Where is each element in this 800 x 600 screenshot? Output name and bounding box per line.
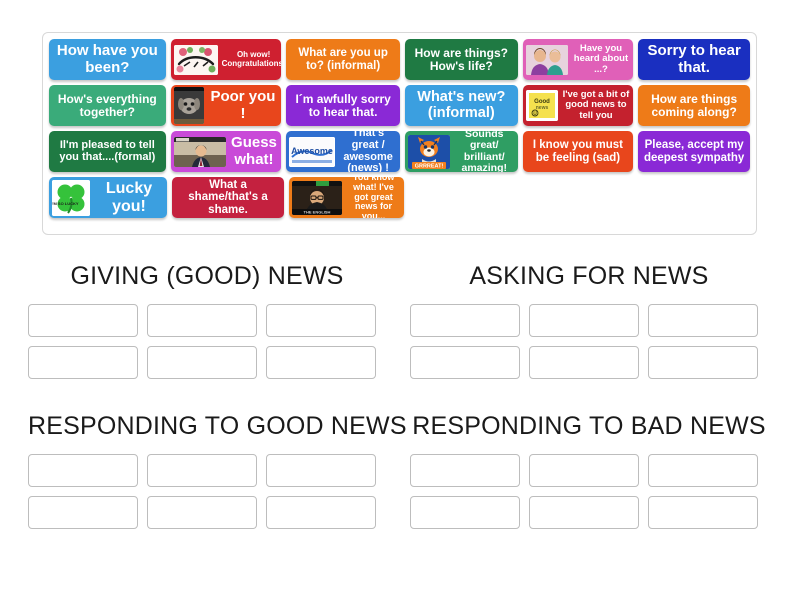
tile-label: That's great / awesome (news) !	[339, 131, 397, 172]
tile-label: Please, accept my deepest sympathy	[642, 139, 746, 164]
sad-dog-video-thumb	[174, 87, 204, 124]
tile-row: How's everything together? Poor you !I´m…	[49, 85, 750, 126]
drop-slot[interactable]	[28, 454, 138, 487]
word-tile-tray: How have you been? Oh wow! Congratulatio…	[42, 32, 757, 235]
drop-slot[interactable]	[147, 454, 257, 487]
drop-slot[interactable]	[266, 304, 376, 337]
drop-slot[interactable]	[648, 454, 758, 487]
category-responding-to-bad-news: RESPONDING TO BAD NEWS	[410, 412, 768, 529]
svg-text:news: news	[535, 105, 548, 111]
slot-grid	[410, 454, 768, 529]
drop-slot[interactable]	[147, 304, 257, 337]
category-giving-good-news: GIVING (GOOD) NEWS	[28, 262, 386, 379]
drop-slot[interactable]	[266, 346, 376, 379]
tile-label: How are things coming along?	[642, 93, 746, 119]
tile-label: You know what! I've got great news for y…	[346, 177, 401, 218]
tile-have-you-heard-about[interactable]: Have you heard about ...?	[523, 39, 634, 80]
tile-sounds-great-brilliant-amazing[interactable]: GRRREAT! Sounds great/ brilliant/ amazin…	[405, 131, 518, 172]
good-news-sticky-note-thumb: Good news	[526, 90, 558, 121]
tile-im-awfully-sorry-to-hear-that[interactable]: I´m awfully sorry to hear that.	[286, 85, 400, 126]
svg-text:GRRREAT!: GRRREAT!	[415, 163, 444, 169]
drop-slot[interactable]	[28, 304, 138, 337]
tile-label: Sorry to hear that.	[642, 43, 746, 75]
man-glasses-video-thumb: THE ENGLISH	[292, 181, 342, 215]
drop-slot[interactable]	[529, 346, 639, 379]
awesome-logo-thumb: Awesome	[289, 137, 335, 167]
drop-slot[interactable]	[529, 496, 639, 529]
slot-grid	[28, 304, 386, 379]
tile-label: How have you been?	[53, 43, 162, 75]
category-asking-for-news: ASKING FOR NEWS	[410, 262, 768, 379]
two-girls-gossip-thumb	[526, 45, 568, 75]
slot-grid	[410, 304, 768, 379]
drop-slot[interactable]	[28, 496, 138, 529]
tile-how-have-you-been[interactable]: How have you been?	[49, 39, 166, 80]
drop-slot[interactable]	[648, 496, 758, 529]
tile-sorry-to-hear-that[interactable]: Sorry to hear that.	[638, 39, 750, 80]
tile-you-know-what-ive-got-great-news[interactable]: THE ENGLISH You know what! I've got grea…	[289, 177, 404, 218]
drop-slot[interactable]	[529, 304, 639, 337]
category-title: ASKING FOR NEWS	[410, 262, 768, 291]
tile-how-are-things-hows-life[interactable]: How are things? How's life?	[405, 39, 518, 80]
drop-slot[interactable]	[266, 496, 376, 529]
svg-text:Awesome: Awesome	[291, 146, 333, 156]
drop-slot[interactable]	[147, 496, 257, 529]
tile-oh-wow-congratulations[interactable]: Oh wow! Congratulations!	[171, 39, 282, 80]
tile-label: How's everything together?	[53, 93, 162, 119]
drop-slot[interactable]	[648, 346, 758, 379]
category-title: GIVING (GOOD) NEWS	[28, 262, 386, 291]
drop-slot[interactable]	[410, 496, 520, 529]
tile-how-are-things-coming-along[interactable]: How are things coming along?	[638, 85, 750, 126]
tile-lucky-you[interactable]: I'M SO LUCKY Lucky you!	[49, 177, 167, 218]
drop-slot[interactable]	[28, 346, 138, 379]
tile-label: Il'm pleased to tell you that....(formal…	[53, 140, 162, 164]
tile-row: Il'm pleased to tell you that....(formal…	[49, 131, 750, 172]
tiger-mascot-thumb: GRRREAT!	[408, 135, 450, 169]
tile-label: Sounds great/ brilliant/ amazing!	[454, 131, 515, 172]
congrats-flowers-thumb	[174, 45, 218, 75]
category-responding-to-good-news: RESPONDING TO GOOD NEWS	[28, 412, 407, 529]
tile-label: Guess what!	[230, 135, 279, 167]
tile-row: How have you been? Oh wow! Congratulatio…	[49, 39, 750, 80]
drop-slot[interactable]	[410, 304, 520, 337]
tile-im-pleased-to-tell-you-formal[interactable]: Il'm pleased to tell you that....(formal…	[49, 131, 166, 172]
tile-rows-container: How have you been? Oh wow! Congratulatio…	[49, 39, 750, 223]
tile-label: How are things? How's life?	[409, 47, 514, 73]
tile-what-are-you-up-to-informal[interactable]: What are you up to? (informal)	[286, 39, 400, 80]
tile-guess-what[interactable]: Guess what!	[171, 131, 282, 172]
tile-label: What are you up to? (informal)	[290, 47, 396, 72]
tile-what-a-shame-thats-a-shame[interactable]: What a shame/that's a shame.	[172, 177, 284, 218]
tile-label: What's new? (informal)	[409, 90, 514, 121]
slot-grid	[28, 454, 386, 529]
tile-label: Lucky you!	[94, 180, 164, 215]
drop-slot[interactable]	[266, 454, 376, 487]
tile-label: I´m awfully sorry to hear that.	[290, 93, 396, 119]
svg-text:I'M SO LUCKY: I'M SO LUCKY	[52, 201, 79, 206]
svg-text:THE ENGLISH: THE ENGLISH	[304, 209, 331, 214]
tile-please-accept-my-deepest-sympathy[interactable]: Please, accept my deepest sympathy	[638, 131, 750, 172]
tile-ive-got-a-bit-of-good-news[interactable]: Good news I've got a bit of good news to…	[523, 85, 634, 126]
tile-label: Oh wow! Congratulations!	[222, 51, 282, 68]
tile-label: I've got a bit of good news to tell you	[562, 90, 631, 121]
category-title: RESPONDING TO BAD NEWS	[410, 412, 768, 441]
drop-slot[interactable]	[529, 454, 639, 487]
category-title: RESPONDING TO GOOD NEWS	[28, 412, 407, 441]
drop-slot[interactable]	[410, 346, 520, 379]
four-leaf-clover-thumb: I'M SO LUCKY	[52, 180, 90, 216]
tile-label: What a shame/that's a shame.	[176, 179, 280, 216]
man-suit-video-thumb	[174, 137, 226, 167]
tile-label: I know you must be feeling (sad)	[527, 139, 630, 164]
tile-i-know-you-must-be-feeling-sad[interactable]: I know you must be feeling (sad)	[523, 131, 634, 172]
tile-poor-you[interactable]: Poor you !	[171, 85, 282, 126]
tile-row: I'M SO LUCKY Lucky you!What a shame/that…	[49, 177, 750, 218]
tile-thats-great-awesome-news[interactable]: Awesome That's great / awesome (news) !	[286, 131, 400, 172]
tile-hows-everything-together[interactable]: How's everything together?	[49, 85, 166, 126]
tile-label: Poor you !	[208, 89, 279, 121]
tile-label: Have you heard about ...?	[572, 44, 631, 75]
drop-slot[interactable]	[147, 346, 257, 379]
drop-slot[interactable]	[648, 304, 758, 337]
drop-slot[interactable]	[410, 454, 520, 487]
tile-whats-new-informal[interactable]: What's new? (informal)	[405, 85, 518, 126]
